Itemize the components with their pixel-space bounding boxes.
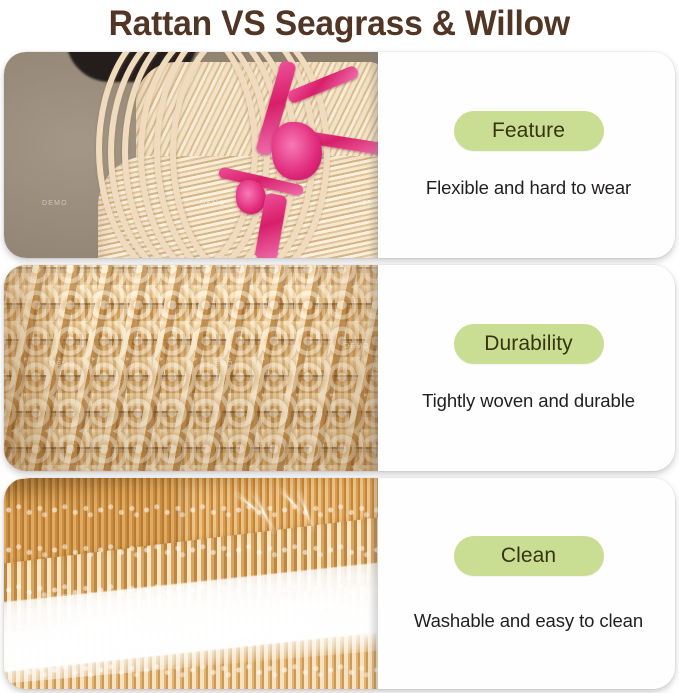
photo-shading-overlay [4, 265, 378, 471]
badge-label: Feature [492, 119, 565, 143]
foam-bubble-speckles [4, 478, 378, 689]
badge-label: Clean [501, 544, 556, 568]
pink-tie-knot [272, 122, 322, 180]
page-title-bar: Rattan VS Seagrass & Willow [0, 0, 679, 47]
page-title: Rattan VS Seagrass & Willow [109, 4, 570, 44]
badge-label: Durability [484, 332, 573, 356]
rattan-weave-texture-photo: DEMO DEMO DEMO [4, 265, 378, 471]
card-description: Flexible and hard to wear [426, 177, 631, 199]
card-description: Tightly woven and durable [422, 390, 635, 412]
infographic-page: Rattan VS Seagrass & Willow [0, 0, 679, 693]
comparison-card-clean: DEMO DEMO DEMO Clean Washable and easy t… [4, 478, 675, 689]
feature-badge: Feature [454, 111, 604, 151]
comparison-card-feature: DEMO DEMO DEMO Feature Flexible and hard… [4, 52, 675, 258]
comparison-card-durability: DEMO DEMO DEMO Durability Tightly woven … [4, 265, 675, 471]
clean-badge: Clean [454, 536, 604, 576]
card-text-panel: Feature Flexible and hard to wear [378, 52, 675, 258]
pink-tie-knot [236, 180, 266, 214]
rattan-basket-washing-photo: DEMO DEMO DEMO [4, 478, 378, 689]
durability-badge: Durability [454, 324, 604, 364]
card-text-panel: Clean Washable and easy to clean [378, 478, 675, 689]
card-text-panel: Durability Tightly woven and durable [378, 265, 675, 471]
cane-coil-group [96, 52, 276, 258]
rattan-cane-coil-photo: DEMO DEMO DEMO [4, 52, 378, 258]
card-description: Washable and easy to clean [414, 610, 643, 632]
